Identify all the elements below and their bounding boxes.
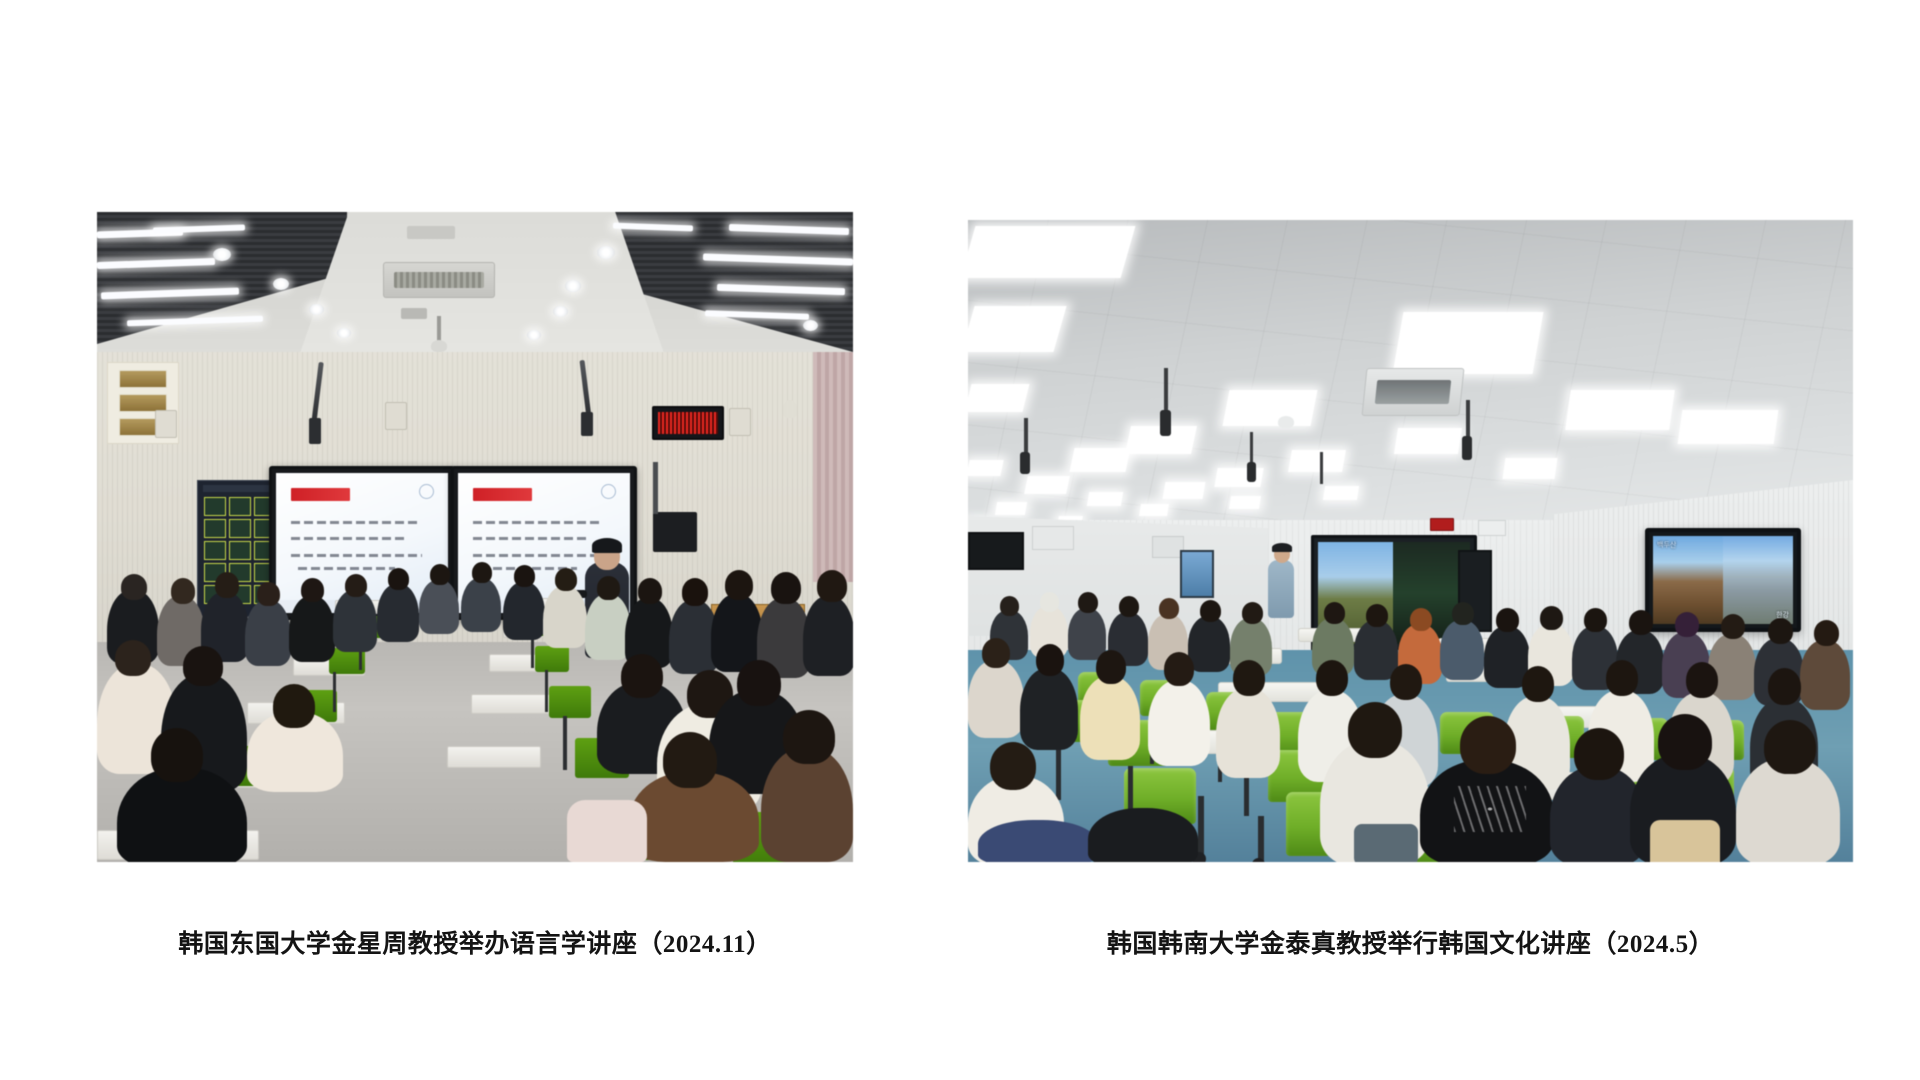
jacket-graphic-print bbox=[1454, 786, 1526, 832]
student bbox=[503, 582, 545, 640]
led-panel-light bbox=[968, 226, 1135, 278]
student-head bbox=[1119, 596, 1139, 617]
student-head bbox=[1316, 660, 1348, 696]
student bbox=[1148, 680, 1210, 766]
student-head bbox=[737, 660, 781, 706]
student-head bbox=[1242, 602, 1263, 624]
student-head bbox=[1078, 592, 1098, 613]
student-head bbox=[1233, 660, 1265, 696]
hanging-microphone-cable bbox=[1320, 452, 1323, 484]
figure-row: 韩国东国大学金星周教授举办语言学讲座（2024.11） bbox=[0, 212, 1920, 812]
hanging-microphone bbox=[581, 412, 593, 436]
hanging-microphone bbox=[309, 418, 321, 444]
slide-text-line bbox=[291, 554, 422, 557]
student bbox=[419, 580, 459, 634]
student-foreground bbox=[978, 820, 1098, 862]
wall-plaque bbox=[119, 370, 167, 388]
document-page: 韩国东国大学金星周教授举办语言学讲座（2024.11） bbox=[0, 0, 1920, 1080]
student-head bbox=[115, 640, 151, 676]
student-head bbox=[638, 578, 662, 604]
slide-text-line bbox=[291, 537, 408, 540]
window-curtain bbox=[813, 352, 853, 582]
slide-title-banner bbox=[473, 488, 531, 501]
led-panel-light bbox=[1323, 486, 1359, 500]
equipment-pole bbox=[653, 462, 658, 514]
ceiling-projector bbox=[407, 226, 455, 239]
ceiling-downlight bbox=[309, 304, 324, 315]
student-head bbox=[1496, 608, 1519, 632]
led-panel-light bbox=[1503, 458, 1558, 479]
led-panel-light bbox=[968, 306, 1067, 352]
student-head bbox=[1721, 614, 1745, 639]
student-head bbox=[430, 564, 450, 585]
student-head bbox=[1686, 662, 1718, 698]
led-panel-light bbox=[968, 384, 1029, 412]
student-head bbox=[1522, 666, 1554, 702]
student-head bbox=[597, 576, 620, 600]
student-head bbox=[1675, 612, 1699, 637]
wall-control-panel bbox=[1478, 520, 1506, 536]
led-panel-light bbox=[1087, 492, 1123, 506]
photo-classroom-korean-culture: 백두산 한강 bbox=[968, 220, 1853, 862]
cabinet-cell bbox=[229, 519, 251, 538]
student bbox=[289, 596, 335, 662]
dome-camera bbox=[431, 340, 447, 352]
slide-text-line bbox=[298, 567, 394, 570]
student-head bbox=[1584, 608, 1607, 632]
led-panel-light bbox=[1024, 476, 1070, 494]
student-head bbox=[1410, 608, 1432, 631]
slide-text-line bbox=[473, 521, 600, 524]
student-head bbox=[1036, 644, 1064, 676]
side-wall-monitor: 백두산 한강 bbox=[1645, 528, 1801, 632]
photo-lecture-hall-linguistics bbox=[97, 212, 853, 862]
student-head bbox=[345, 574, 367, 597]
led-panel-light bbox=[1069, 448, 1130, 472]
led-panel-light bbox=[1393, 312, 1544, 374]
led-panel-light bbox=[1229, 496, 1261, 509]
slide-logo bbox=[601, 484, 616, 499]
cabinet-cell bbox=[229, 497, 251, 516]
student-head bbox=[555, 568, 577, 591]
student bbox=[1068, 608, 1106, 660]
student-head bbox=[514, 565, 535, 587]
student bbox=[333, 590, 377, 652]
student bbox=[1020, 668, 1078, 750]
student-head bbox=[621, 654, 663, 698]
hanging-microphone bbox=[1462, 436, 1472, 460]
student-head bbox=[1606, 660, 1638, 696]
led-panel-light bbox=[1394, 428, 1462, 454]
wall-monitor-far-left bbox=[968, 532, 1024, 570]
ceiling-sensor bbox=[401, 308, 427, 319]
student-head bbox=[215, 572, 239, 598]
hanging-microphone bbox=[1160, 410, 1171, 436]
student-head bbox=[1658, 714, 1712, 770]
led-clock-display bbox=[652, 406, 724, 440]
ceiling-downlight bbox=[273, 278, 289, 290]
student-head bbox=[1324, 602, 1345, 624]
monitor-label-left: 백두산 bbox=[1657, 540, 1676, 550]
student bbox=[245, 600, 291, 666]
presenter-hair bbox=[592, 538, 622, 553]
slide-text-line bbox=[473, 554, 604, 557]
student bbox=[1354, 620, 1398, 680]
backpack bbox=[1650, 820, 1720, 862]
classroom-chair bbox=[549, 686, 591, 718]
led-panel-light bbox=[1565, 390, 1675, 430]
student-head bbox=[771, 572, 801, 604]
ceiling-downlight bbox=[565, 280, 581, 292]
slide-text-line bbox=[291, 521, 418, 524]
student-head bbox=[151, 728, 203, 782]
presenter-hair bbox=[1272, 543, 1292, 552]
student-head bbox=[1200, 600, 1221, 622]
chair-leg bbox=[1056, 742, 1061, 800]
student-head bbox=[982, 638, 1010, 668]
wall-speaker-left bbox=[155, 410, 177, 438]
student-head bbox=[990, 742, 1036, 790]
student-head bbox=[1814, 620, 1839, 646]
cabinet-top-label bbox=[203, 485, 277, 492]
student-head bbox=[1000, 596, 1019, 616]
student-desk bbox=[447, 746, 541, 768]
student bbox=[1800, 640, 1850, 710]
student-head bbox=[171, 578, 195, 604]
student-head bbox=[1096, 650, 1126, 684]
student-head bbox=[1452, 602, 1474, 625]
student-head bbox=[1574, 728, 1624, 780]
student-head bbox=[1164, 652, 1194, 686]
student bbox=[1440, 620, 1484, 680]
student-head bbox=[1768, 618, 1793, 644]
student bbox=[1216, 688, 1280, 778]
student-head bbox=[783, 710, 835, 764]
student-head bbox=[1768, 668, 1801, 705]
led-panel-light bbox=[1214, 468, 1263, 487]
slide-logo bbox=[419, 484, 434, 499]
figure-left-caption: 韩国东国大学金星周教授举办语言学讲座（2024.11） bbox=[97, 924, 853, 960]
student-desk bbox=[471, 694, 551, 714]
student-head bbox=[1764, 720, 1816, 774]
student-head bbox=[257, 582, 280, 606]
student bbox=[803, 596, 853, 676]
ceiling-downlight bbox=[597, 246, 615, 259]
student-head bbox=[121, 574, 147, 600]
cabinet-cell bbox=[204, 497, 226, 516]
cabinet-cell bbox=[204, 541, 226, 560]
slide-title-banner bbox=[291, 488, 349, 501]
plaid-bag bbox=[1354, 824, 1418, 862]
ceiling-downlight bbox=[213, 248, 231, 261]
student-head bbox=[301, 578, 324, 602]
ceiling-cassette-air-conditioner bbox=[1361, 368, 1464, 416]
chair-leg bbox=[545, 670, 548, 712]
student-head bbox=[1460, 716, 1516, 774]
cabinet-cell bbox=[204, 519, 226, 538]
student-head bbox=[1629, 610, 1653, 635]
led-panel-light bbox=[1288, 450, 1346, 472]
student-head bbox=[663, 732, 717, 788]
student-head bbox=[388, 568, 409, 590]
student-head bbox=[1366, 604, 1388, 627]
student-head bbox=[1159, 598, 1179, 619]
chair-leg bbox=[333, 672, 336, 712]
wall-speaker-right bbox=[729, 408, 751, 436]
led-panel-light bbox=[1163, 482, 1206, 499]
led-panel-light bbox=[1223, 390, 1318, 426]
student bbox=[461, 578, 501, 632]
student-head bbox=[725, 570, 753, 600]
student-front bbox=[761, 748, 853, 862]
figure-left: 韩国东国大学金星周教授举办语言学讲座（2024.11） bbox=[97, 212, 853, 862]
student-head bbox=[682, 578, 708, 606]
figure-right: 백두산 한강 bbox=[968, 212, 1853, 854]
emergency-exit-sign bbox=[1430, 518, 1454, 531]
figure-right-caption: 韩国韩南大学金泰真教授举行韩国文化讲座（2024.5） bbox=[968, 924, 1853, 960]
hanging-microphone bbox=[1020, 452, 1030, 474]
camera-pole bbox=[437, 316, 441, 342]
smoke-detector bbox=[1278, 416, 1294, 428]
ceiling-downlight bbox=[553, 306, 568, 317]
led-panel-light bbox=[968, 460, 1004, 476]
wall-equipment-box bbox=[653, 512, 697, 552]
student-head bbox=[273, 684, 315, 728]
ceiling-downlight bbox=[803, 320, 818, 331]
presenter-body bbox=[1268, 560, 1294, 618]
chair-leg bbox=[1258, 816, 1264, 862]
student-head bbox=[1540, 606, 1563, 630]
hanging-microphone-cable bbox=[1164, 368, 1168, 416]
student-foreground bbox=[1088, 808, 1198, 862]
wall-speaker-center bbox=[385, 402, 407, 430]
hanging-microphone bbox=[1247, 462, 1256, 482]
ceiling-downlight bbox=[527, 330, 541, 340]
student-head bbox=[817, 570, 847, 602]
classroom-chair bbox=[535, 646, 569, 672]
student-front bbox=[117, 768, 247, 862]
coat-on-chair bbox=[567, 800, 647, 862]
student bbox=[543, 586, 587, 648]
led-panel-light bbox=[995, 502, 1027, 515]
student-head bbox=[472, 562, 492, 583]
student bbox=[1188, 616, 1230, 672]
student bbox=[968, 660, 1024, 738]
wall-vent bbox=[1032, 526, 1074, 550]
student-head bbox=[1390, 664, 1422, 700]
chair-leg bbox=[1198, 796, 1204, 858]
slide-text-line bbox=[473, 537, 590, 540]
wall-poster bbox=[1180, 550, 1214, 598]
led-panel-light bbox=[1678, 410, 1779, 444]
ceiling-downlight bbox=[337, 328, 351, 338]
student-head bbox=[1040, 592, 1059, 612]
led-panel-light bbox=[1139, 504, 1169, 516]
student bbox=[1080, 676, 1140, 760]
dome-camera-wall bbox=[783, 400, 797, 418]
student-head bbox=[183, 646, 223, 686]
student-head bbox=[1348, 702, 1402, 758]
cabinet-cell bbox=[229, 541, 251, 560]
ceiling-air-conditioner bbox=[383, 262, 495, 298]
student bbox=[377, 584, 419, 642]
chair-leg bbox=[563, 716, 567, 770]
